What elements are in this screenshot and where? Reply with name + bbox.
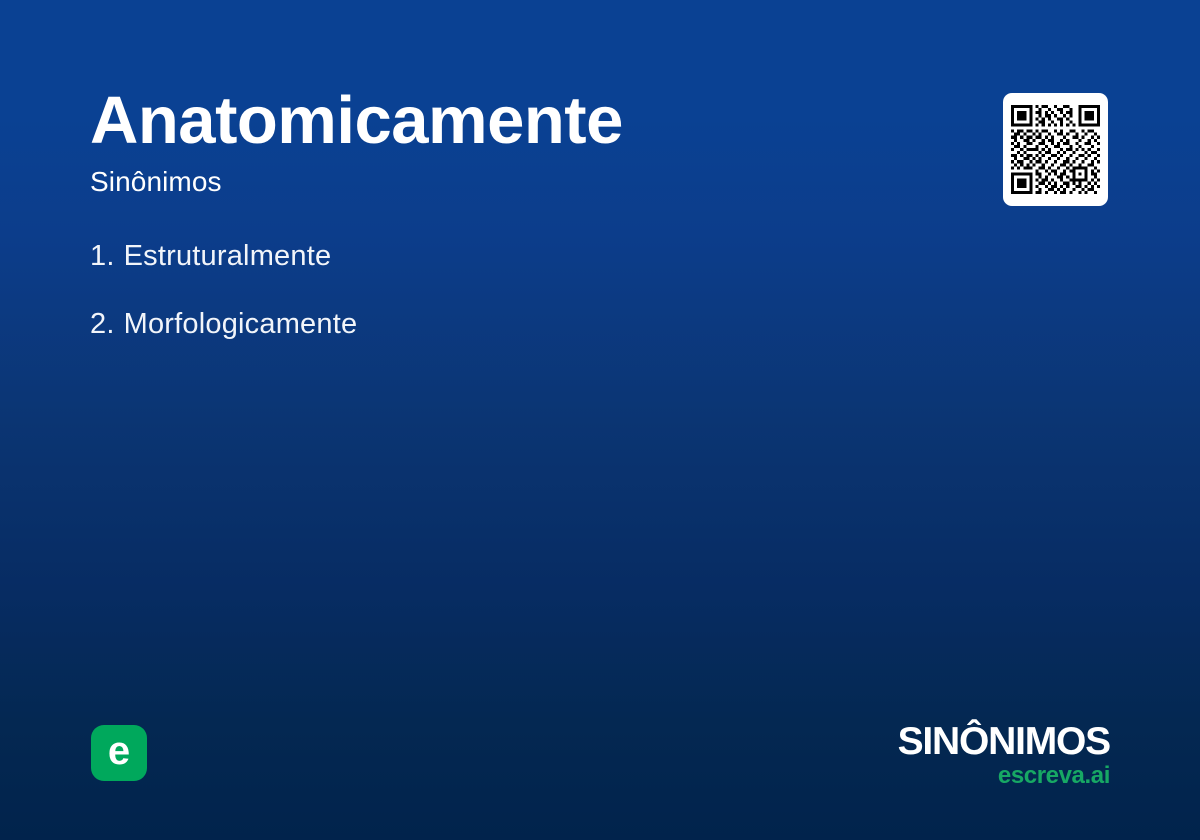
synonyms-list: 1. Estruturalmente 2. Morfologicamente (90, 238, 990, 374)
brand-logo-domain: escreva.ai (898, 761, 1110, 789)
list-item-index: 1. (90, 238, 115, 275)
escreva-e-icon[interactable]: e (91, 725, 147, 781)
list-item-label: Estruturalmente (124, 238, 332, 275)
synonyms-card: Anatomicamente Sinônimos 1. Estruturalme… (0, 0, 1200, 840)
list-item: 2. Morfologicamente (90, 306, 990, 343)
list-item: 1. Estruturalmente (90, 238, 990, 275)
brand-logo-name: SINÔNIMOS (898, 722, 1110, 761)
list-item-index: 2. (90, 306, 115, 343)
list-item-label: Morfologicamente (124, 306, 358, 343)
page-title: Anatomicamente (90, 84, 930, 158)
brand-mark-letter: e (108, 731, 130, 771)
qr-code-icon[interactable] (1011, 105, 1100, 194)
word-header: Anatomicamente Sinônimos (90, 84, 930, 199)
brand-logo[interactable]: SINÔNIMOS escreva.ai (898, 722, 1110, 789)
page-subtitle: Sinônimos (90, 158, 930, 199)
qr-code-panel[interactable] (1003, 93, 1108, 206)
